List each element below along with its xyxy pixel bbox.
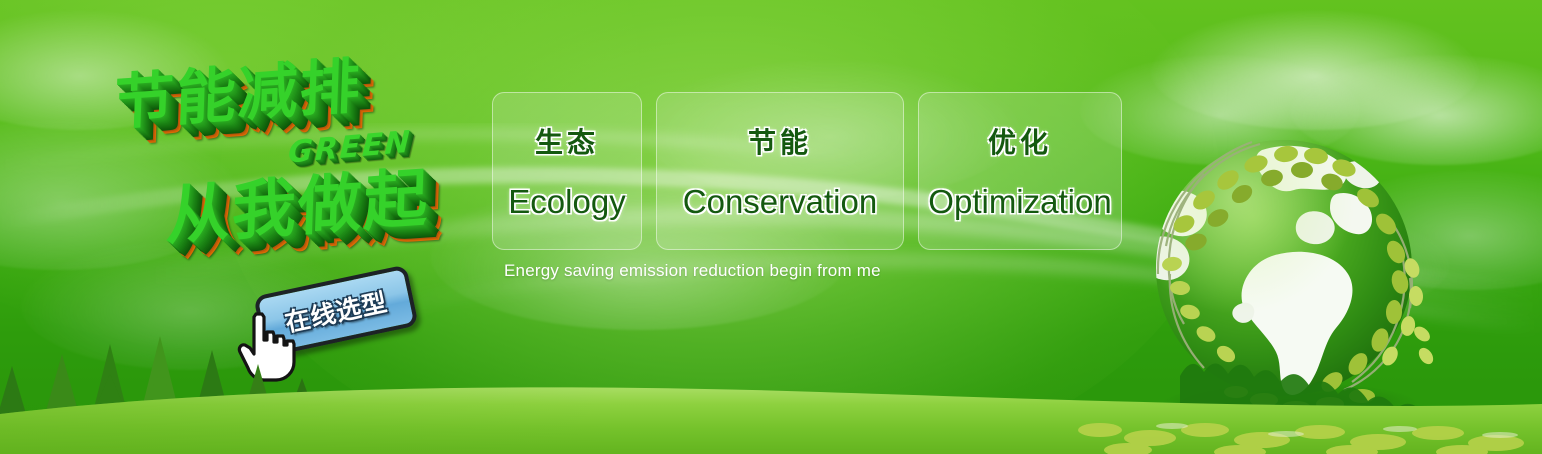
card-optimization-en: Optimization bbox=[928, 183, 1111, 221]
card-conservation-cn: 节能 bbox=[748, 121, 812, 161]
card-ecology-en: Ecology bbox=[508, 183, 625, 221]
card-conservation-en: Conservation bbox=[683, 183, 877, 221]
slogan-line-bottom: 从我做起 bbox=[165, 147, 432, 258]
ground-landscape bbox=[0, 330, 1542, 454]
cloud-left-1 bbox=[0, 10, 230, 130]
card-optimization[interactable]: 优化 Optimization bbox=[918, 92, 1122, 250]
card-optimization-cn: 优化 bbox=[988, 121, 1052, 161]
card-ecology[interactable]: 生态 Ecology bbox=[492, 92, 642, 250]
card-conservation[interactable]: 节能 Conservation bbox=[656, 92, 904, 250]
card-ecology-cn: 生态 bbox=[535, 121, 599, 161]
cloud-left-2 bbox=[0, 120, 240, 270]
slogan-line-top: 节能减排 bbox=[113, 37, 363, 142]
slogan-3d-block: 节能减排 GREEN 从我做起 bbox=[100, 38, 500, 268]
green-energy-banner: 节能减排 GREEN 从我做起 在线选型 生态 Ecology 节能 Conse… bbox=[0, 0, 1542, 454]
banner-tagline: Energy saving emission reduction begin f… bbox=[504, 261, 881, 281]
slogan-english-word: GREEN bbox=[287, 124, 412, 170]
cloud-right-1 bbox=[1150, 10, 1480, 130]
feature-card-row: 生态 Ecology 节能 Conservation 优化 Optimizati… bbox=[492, 92, 1122, 250]
